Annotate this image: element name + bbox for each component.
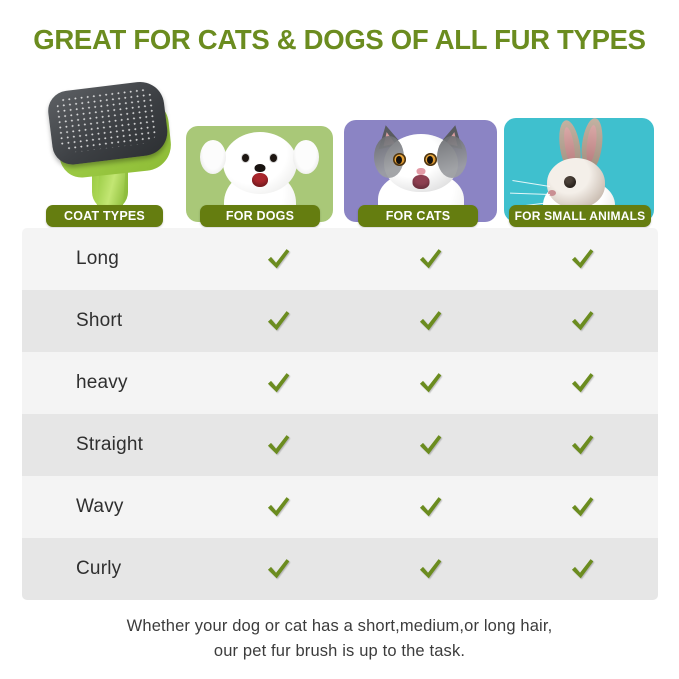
check-mark-icon: [570, 247, 595, 271]
check-mark-icon: [266, 557, 291, 581]
footer-line-2: our pet fur brush is up to the task.: [0, 639, 679, 664]
category-cards-strip: COAT TYPES FOR DOGS FOR CATS FOR SMALL A…: [0, 0, 679, 228]
badge-for-dogs: FOR DOGS: [200, 205, 320, 227]
check-mark-icon: [418, 309, 443, 333]
row-label-coat-type: heavy: [22, 372, 202, 394]
cell-for-cats: [354, 495, 506, 519]
check-mark-icon: [570, 371, 595, 395]
cell-for-dogs: [202, 371, 354, 395]
cell-for-cats: [354, 433, 506, 457]
row-label-coat-type: Curly: [22, 558, 202, 580]
cell-for-small-animals: [506, 371, 658, 395]
cell-for-small-animals: [506, 433, 658, 457]
badge-coat-types: COAT TYPES: [46, 205, 163, 227]
dog-nose: [254, 164, 265, 172]
dog-ear-left: [200, 140, 226, 174]
check-mark-icon: [418, 433, 443, 457]
check-mark-icon: [418, 557, 443, 581]
check-mark-icon: [266, 495, 291, 519]
check-mark-icon: [266, 309, 291, 333]
table-row: Short: [22, 290, 658, 352]
dog-eye-left: [242, 154, 249, 162]
check-mark-icon: [266, 247, 291, 271]
cell-for-small-animals: [506, 557, 658, 581]
check-mark-icon: [418, 495, 443, 519]
cell-for-small-animals: [506, 247, 658, 271]
cat-pupil-left: [396, 156, 402, 164]
cat-mouth: [412, 175, 429, 189]
check-mark-icon: [570, 557, 595, 581]
badge-for-small-animals: FOR SMALL ANIMALS: [509, 205, 651, 227]
check-mark-icon: [266, 371, 291, 395]
check-mark-icon: [570, 495, 595, 519]
row-label-coat-type: Wavy: [22, 496, 202, 518]
check-mark-icon: [570, 433, 595, 457]
cell-for-dogs: [202, 309, 354, 333]
brush-pin-pad: [46, 79, 170, 167]
dog-mouth: [252, 173, 268, 187]
cat-pupil-right: [427, 156, 433, 164]
product-feature-infographic: GREAT FOR CATS & DOGS OF ALL FUR TYPES: [0, 0, 679, 679]
cell-for-cats: [354, 371, 506, 395]
table-row: Straight: [22, 414, 658, 476]
check-mark-icon: [418, 247, 443, 271]
rabbit-eye: [564, 176, 576, 188]
table-row: Long: [22, 228, 658, 290]
cell-for-cats: [354, 557, 506, 581]
check-mark-icon: [570, 309, 595, 333]
cell-for-dogs: [202, 433, 354, 457]
footer-line-1: Whether your dog or cat has a short,medi…: [0, 614, 679, 639]
badge-for-cats: FOR CATS: [358, 205, 478, 227]
row-label-coat-type: Straight: [22, 434, 202, 456]
check-mark-icon: [418, 371, 443, 395]
table-row: Wavy: [22, 476, 658, 538]
dog-ear-right: [293, 140, 319, 174]
cell-for-cats: [354, 309, 506, 333]
rabbit-head: [547, 158, 605, 208]
cat-fur-patch-right: [437, 136, 467, 178]
rabbit-whisker: [510, 193, 550, 195]
coat-types-comparison-table: Long Short heavy: [22, 228, 658, 600]
cell-for-small-animals: [506, 309, 658, 333]
cell-for-cats: [354, 247, 506, 271]
dog-eye-right: [270, 154, 277, 162]
cell-for-dogs: [202, 495, 354, 519]
row-label-coat-type: Short: [22, 310, 202, 332]
table-row: heavy: [22, 352, 658, 414]
pet-slicker-brush-image: [40, 78, 175, 210]
cell-for-dogs: [202, 557, 354, 581]
brush-pins: [54, 86, 160, 154]
cat-nose: [416, 168, 425, 175]
row-label-coat-type: Long: [22, 248, 202, 270]
cell-for-dogs: [202, 247, 354, 271]
check-mark-icon: [266, 433, 291, 457]
rabbit-whisker: [512, 180, 550, 187]
cell-for-small-animals: [506, 495, 658, 519]
table-row: Curly: [22, 538, 658, 600]
footer-description: Whether your dog or cat has a short,medi…: [0, 614, 679, 664]
